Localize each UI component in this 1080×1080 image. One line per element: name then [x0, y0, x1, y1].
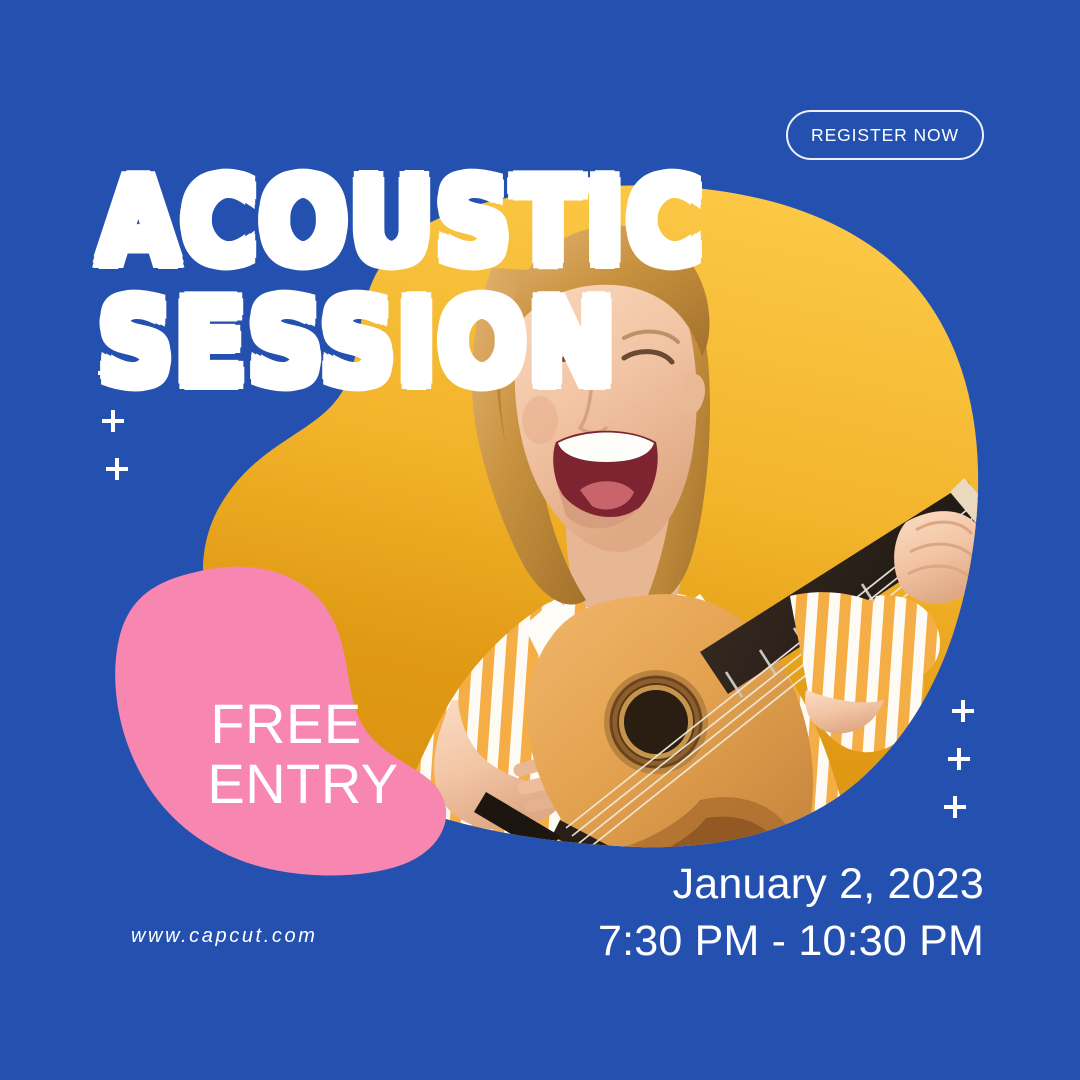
title-line-2: SESSION [98, 287, 705, 401]
event-info: January 2, 2023 7:30 PM - 10:30 PM [598, 856, 984, 970]
event-date: January 2, 2023 [598, 856, 984, 913]
plus-decoration-group-left [98, 362, 158, 492]
plus-icon [106, 458, 128, 480]
plus-icon [944, 796, 966, 818]
poster-canvas: ACOUSTIC SESSION REGISTER NOW FREE ENTRY… [0, 0, 1080, 1080]
event-time: 7:30 PM - 10:30 PM [598, 913, 984, 970]
free-entry-line-1: FREE [210, 692, 361, 755]
plus-icon [102, 410, 124, 432]
plus-icon [948, 748, 970, 770]
plus-decoration-group-right [944, 700, 1004, 830]
free-entry-badge-text: FREE ENTRY [150, 694, 422, 815]
website-url[interactable]: www.capcut.com [131, 925, 317, 948]
plus-icon [98, 362, 120, 384]
plus-icon [952, 700, 974, 722]
register-now-button[interactable]: REGISTER NOW [786, 110, 984, 160]
free-entry-line-2: ENTRY [184, 754, 422, 814]
title-line-1: ACOUSTIC [98, 166, 705, 280]
page-title: ACOUSTIC SESSION [98, 166, 705, 401]
